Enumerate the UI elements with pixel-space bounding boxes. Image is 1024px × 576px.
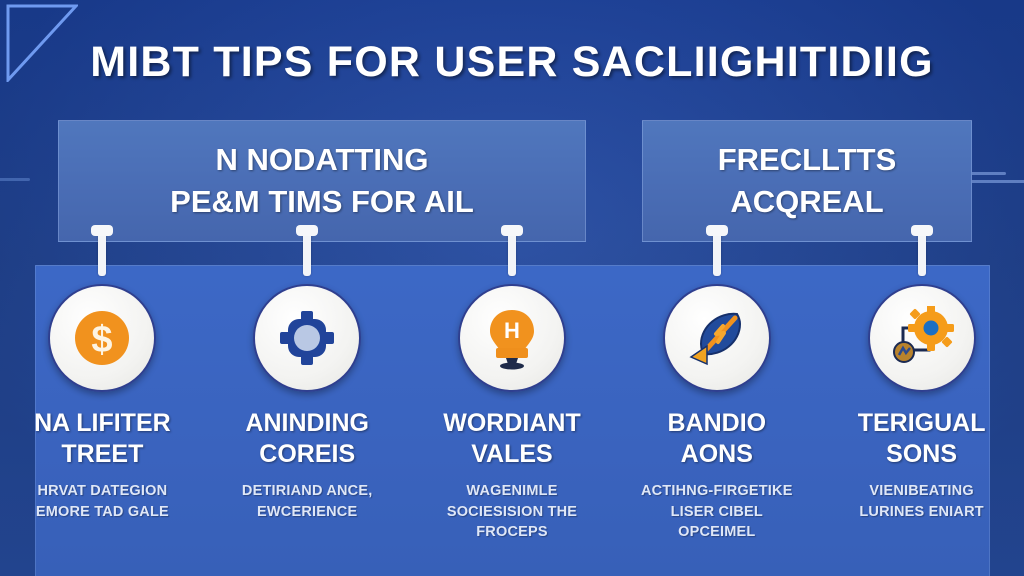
feature-title-5-line-2: SONS	[858, 439, 986, 470]
banner-left-line-2: PE&M TIMS FOR AIL	[170, 181, 474, 223]
page-title: MIBT TIPS FOR USER SACLIIGHITIDIIG	[0, 38, 1024, 87]
connector-pin-2	[303, 230, 311, 276]
feature-title-4-line-1: BANDIO	[667, 408, 766, 439]
feature-column-2: ANINDING COREIS DETIRIAND ANCE, EWCERIEN…	[205, 262, 410, 543]
svg-text:$: $	[92, 319, 113, 361]
leaf-arrow-icon	[685, 306, 749, 370]
feature-sub-2-line-2: EWCERIENCE	[242, 502, 373, 523]
feature-sub-2: DETIRIAND ANCE, EWCERIENCE	[242, 481, 373, 522]
feature-title-2: ANINDING COREIS	[245, 408, 369, 469]
icon-circle-5	[868, 284, 976, 392]
feature-sub-3-line-1: WAGENIMLE	[447, 481, 577, 502]
feature-title-2-line-2: COREIS	[245, 439, 369, 470]
icon-circle-1: $	[48, 284, 156, 392]
connector-pin-5	[918, 230, 926, 276]
feature-title-3-line-2: VALES	[443, 439, 580, 470]
feature-sub-4: ACTIHNG-FIRGETIKE LISER CIBEL OPCEIMEL	[641, 481, 793, 543]
feature-sub-3: WAGENIMLE SOCIESISION THE FROCEPS	[447, 481, 577, 543]
feature-sub-4-line-3: OPCEIMEL	[641, 522, 793, 543]
feature-column-3: H WORDIANT VALES WAGENIMLE SOCIESISION T…	[410, 262, 615, 543]
feature-sub-1-line-1: HRVAT DATEGION	[36, 481, 169, 502]
banner-left: N NODATTING PE&M TIMS FOR AIL	[58, 120, 586, 242]
feature-sub-3-line-2: SOCIESISION THE	[447, 502, 577, 523]
feature-sub-1-line-2: EMORE TAD GALE	[36, 502, 169, 523]
feature-sub-5-line-2: LURINES ENIART	[859, 502, 983, 523]
feature-title-4: BANDIO AONS	[667, 408, 766, 469]
feature-sub-1: HRVAT DATEGION EMORE TAD GALE	[36, 481, 169, 522]
feature-sub-4-line-2: LISER CIBEL	[641, 502, 793, 523]
icon-circle-4	[663, 284, 771, 392]
feature-column-1: $ NA LIFITER TREET HRVAT DATEGION EMORE …	[0, 262, 205, 543]
feature-sub-4-line-1: ACTIHNG-FIRGETIKE	[641, 481, 793, 502]
gear-network-icon	[889, 306, 955, 370]
banner-right-line-1: FRECLLTTS	[718, 139, 897, 181]
feature-sub-2-line-1: DETIRIAND ANCE,	[242, 481, 373, 502]
feature-sub-3-line-3: FROCEPS	[447, 522, 577, 543]
feature-columns: $ NA LIFITER TREET HRVAT DATEGION EMORE …	[0, 262, 1024, 543]
banner-right-line-2: ACQREAL	[730, 181, 883, 223]
icon-circle-2	[253, 284, 361, 392]
feature-sub-5-line-1: VIENIBEATING	[859, 481, 983, 502]
connector-pin-1	[98, 230, 106, 276]
feature-title-2-line-1: ANINDING	[245, 408, 369, 439]
connector-pin-3	[508, 230, 516, 276]
lightbulb-stand-icon: H	[482, 306, 542, 370]
feature-title-4-line-2: AONS	[667, 439, 766, 470]
dollar-coin-icon: $	[71, 307, 133, 369]
feature-title-1-line-2: TREET	[34, 439, 171, 470]
feature-title-5: TERIGUAL SONS	[858, 408, 986, 469]
gear-icon	[276, 307, 338, 369]
feature-title-5-line-1: TERIGUAL	[858, 408, 986, 439]
icon-circle-3: H	[458, 284, 566, 392]
feature-column-5: TERIGUAL SONS VIENIBEATING LURINES ENIAR…	[819, 262, 1024, 543]
connector-pin-4	[713, 230, 721, 276]
feature-title-3: WORDIANT VALES	[443, 408, 580, 469]
banner-left-line-1: N NODATTING	[216, 139, 429, 181]
feature-title-1-line-1: NA LIFITER	[34, 408, 171, 439]
feature-sub-5: VIENIBEATING LURINES ENIART	[859, 481, 983, 522]
decoration-lines-left	[0, 178, 50, 198]
banner-right: FRECLLTTS ACQREAL	[642, 120, 972, 242]
feature-title-1: NA LIFITER TREET	[34, 408, 171, 469]
feature-title-3-line-1: WORDIANT	[443, 408, 580, 439]
svg-text:H: H	[504, 318, 520, 343]
feature-column-4: BANDIO AONS ACTIHNG-FIRGETIKE LISER CIBE…	[614, 262, 819, 543]
infographic-canvas: MIBT TIPS FOR USER SACLIIGHITIDIIG N NOD…	[0, 0, 1024, 576]
